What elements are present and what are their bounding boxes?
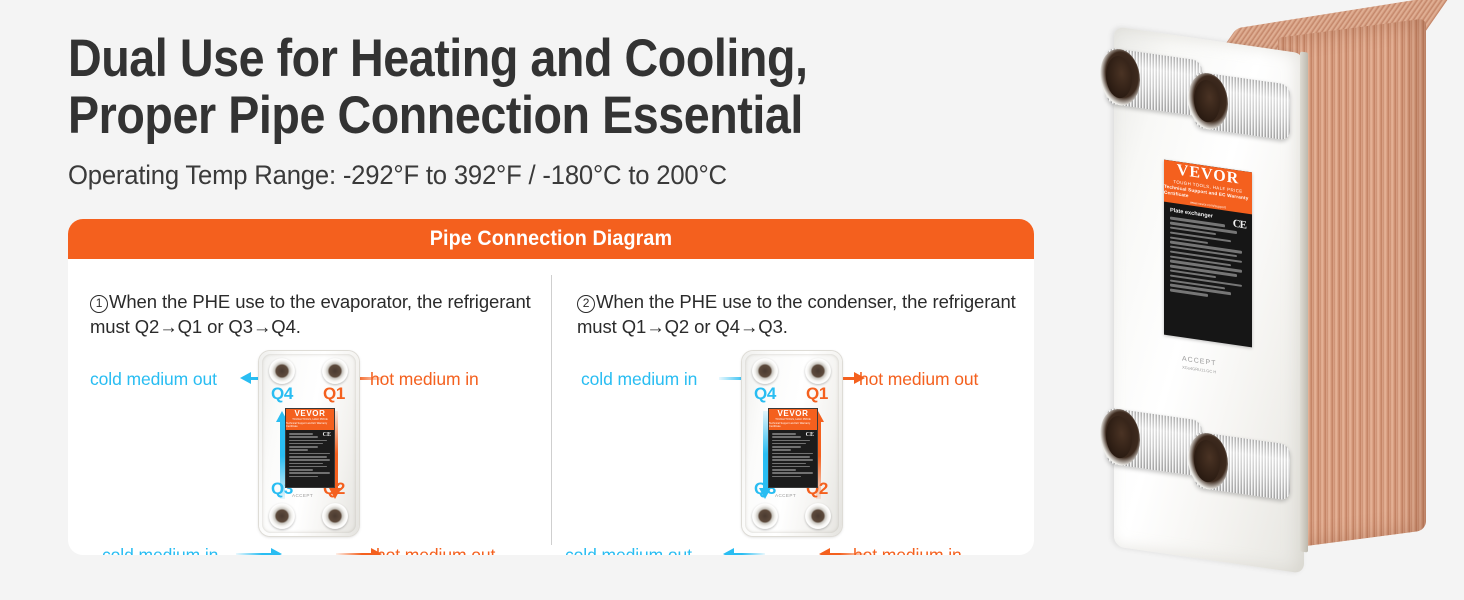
- label-bottom-left: cold medium out: [565, 545, 692, 555]
- heat-exchanger-plate-diagram: Q4 Q1 Q3 Q2 VEVOR TOUGH TOOLS, HALF PRIC…: [742, 351, 842, 536]
- plate-edge: [1300, 51, 1308, 552]
- ce-mark-icon: CE: [806, 432, 814, 438]
- arrow-bottom-left-in: [236, 548, 282, 555]
- label-top-left: cold medium out: [90, 369, 217, 390]
- card-body: 1When the PHE use to the evaporator, the…: [68, 259, 1034, 555]
- product-photo: VEVOR TOUGH TOOLS, HALF PRICE Technical …: [1086, 6, 1458, 594]
- card-header-title: Pipe Connection Diagram: [430, 227, 672, 251]
- port-q1: [805, 358, 831, 384]
- port-q3: [752, 503, 778, 529]
- panel-caption-text: When the PHE use to the condenser, the r…: [577, 291, 1016, 337]
- product-infographic: Dual Use for Heating and Cooling, Proper…: [0, 0, 1464, 600]
- port-q3: [269, 503, 295, 529]
- plate-accept-mark: ACCEPT: [775, 493, 796, 498]
- label-bottom-right: hot medium out: [376, 545, 495, 555]
- port-q2: [322, 503, 348, 529]
- panel-caption: 2When the PHE use to the condenser, the …: [577, 289, 1019, 339]
- port-label-q4: Q4: [271, 384, 293, 404]
- card-header: Pipe Connection Diagram: [68, 219, 1034, 259]
- arrow-bottom-left-out: [723, 548, 765, 555]
- port-q4: [752, 358, 778, 384]
- panel-caption: 1When the PHE use to the evaporator, the…: [90, 289, 532, 339]
- panel-condenser: 2When the PHE use to the condenser, the …: [551, 259, 1034, 555]
- ce-mark-icon: CE: [323, 432, 331, 438]
- label-bottom-right: hot medium in: [853, 545, 962, 555]
- port-label-q1: Q1: [806, 384, 828, 404]
- heat-exchanger-plate-diagram: Q4 Q1 Q3 Q2 VEVOR TOUGH TOOLS, HALF PRIC…: [259, 351, 359, 536]
- port-label-q4: Q4: [754, 384, 776, 404]
- panel-caption-text: When the PHE use to the evaporator, the …: [90, 291, 531, 337]
- plate-accept-mark: ACCEPT: [292, 493, 313, 498]
- port-q1: [322, 358, 348, 384]
- panel-marker: 1: [90, 295, 108, 313]
- label-top-right: hot medium out: [859, 369, 978, 390]
- label-bottom-left: cold medium in: [102, 545, 218, 555]
- plate-label-spec: CE: [286, 430, 334, 477]
- product-label-spec: CE Plate exchanger: [1164, 202, 1252, 311]
- plate-label-header: VEVOR TOUGH TOOLS, HALF PRICE Technical …: [769, 409, 817, 430]
- plate-label-header: VEVOR TOUGH TOOLS, HALF PRICE Technical …: [286, 409, 334, 430]
- label-top-right: hot medium in: [370, 369, 479, 390]
- page-title: Dual Use for Heating and Cooling, Proper…: [68, 30, 913, 144]
- port-label-q1: Q1: [323, 384, 345, 404]
- page-subtitle: Operating Temp Range: -292°F to 392°F / …: [68, 160, 727, 191]
- plate-vevor-label: VEVOR TOUGH TOOLS, HALF PRICE Technical …: [285, 408, 335, 488]
- label-top-left: cold medium in: [581, 369, 697, 390]
- plate-label-spec: CE: [769, 430, 817, 477]
- heat-exchanger-unit: VEVOR TOUGH TOOLS, HALF PRICE Technical …: [1086, 6, 1458, 594]
- plate-label-certificate: Technical Support and EC Warranty Certif…: [286, 422, 334, 429]
- port-q4: [269, 358, 295, 384]
- port-q2: [805, 503, 831, 529]
- ce-mark-icon: CE: [1233, 218, 1246, 232]
- plate-label-certificate: Technical Support and EC Warranty Certif…: [769, 422, 817, 429]
- plate-vevor-label: VEVOR TOUGH TOOLS, HALF PRICE Technical …: [768, 408, 818, 488]
- product-vevor-label: VEVOR TOUGH TOOLS, HALF PRICE Technical …: [1164, 160, 1252, 348]
- panel-evaporator: 1When the PHE use to the evaporator, the…: [68, 259, 551, 555]
- pipe-connection-card: Pipe Connection Diagram 1When the PHE us…: [68, 219, 1034, 555]
- panel-marker: 2: [577, 295, 595, 313]
